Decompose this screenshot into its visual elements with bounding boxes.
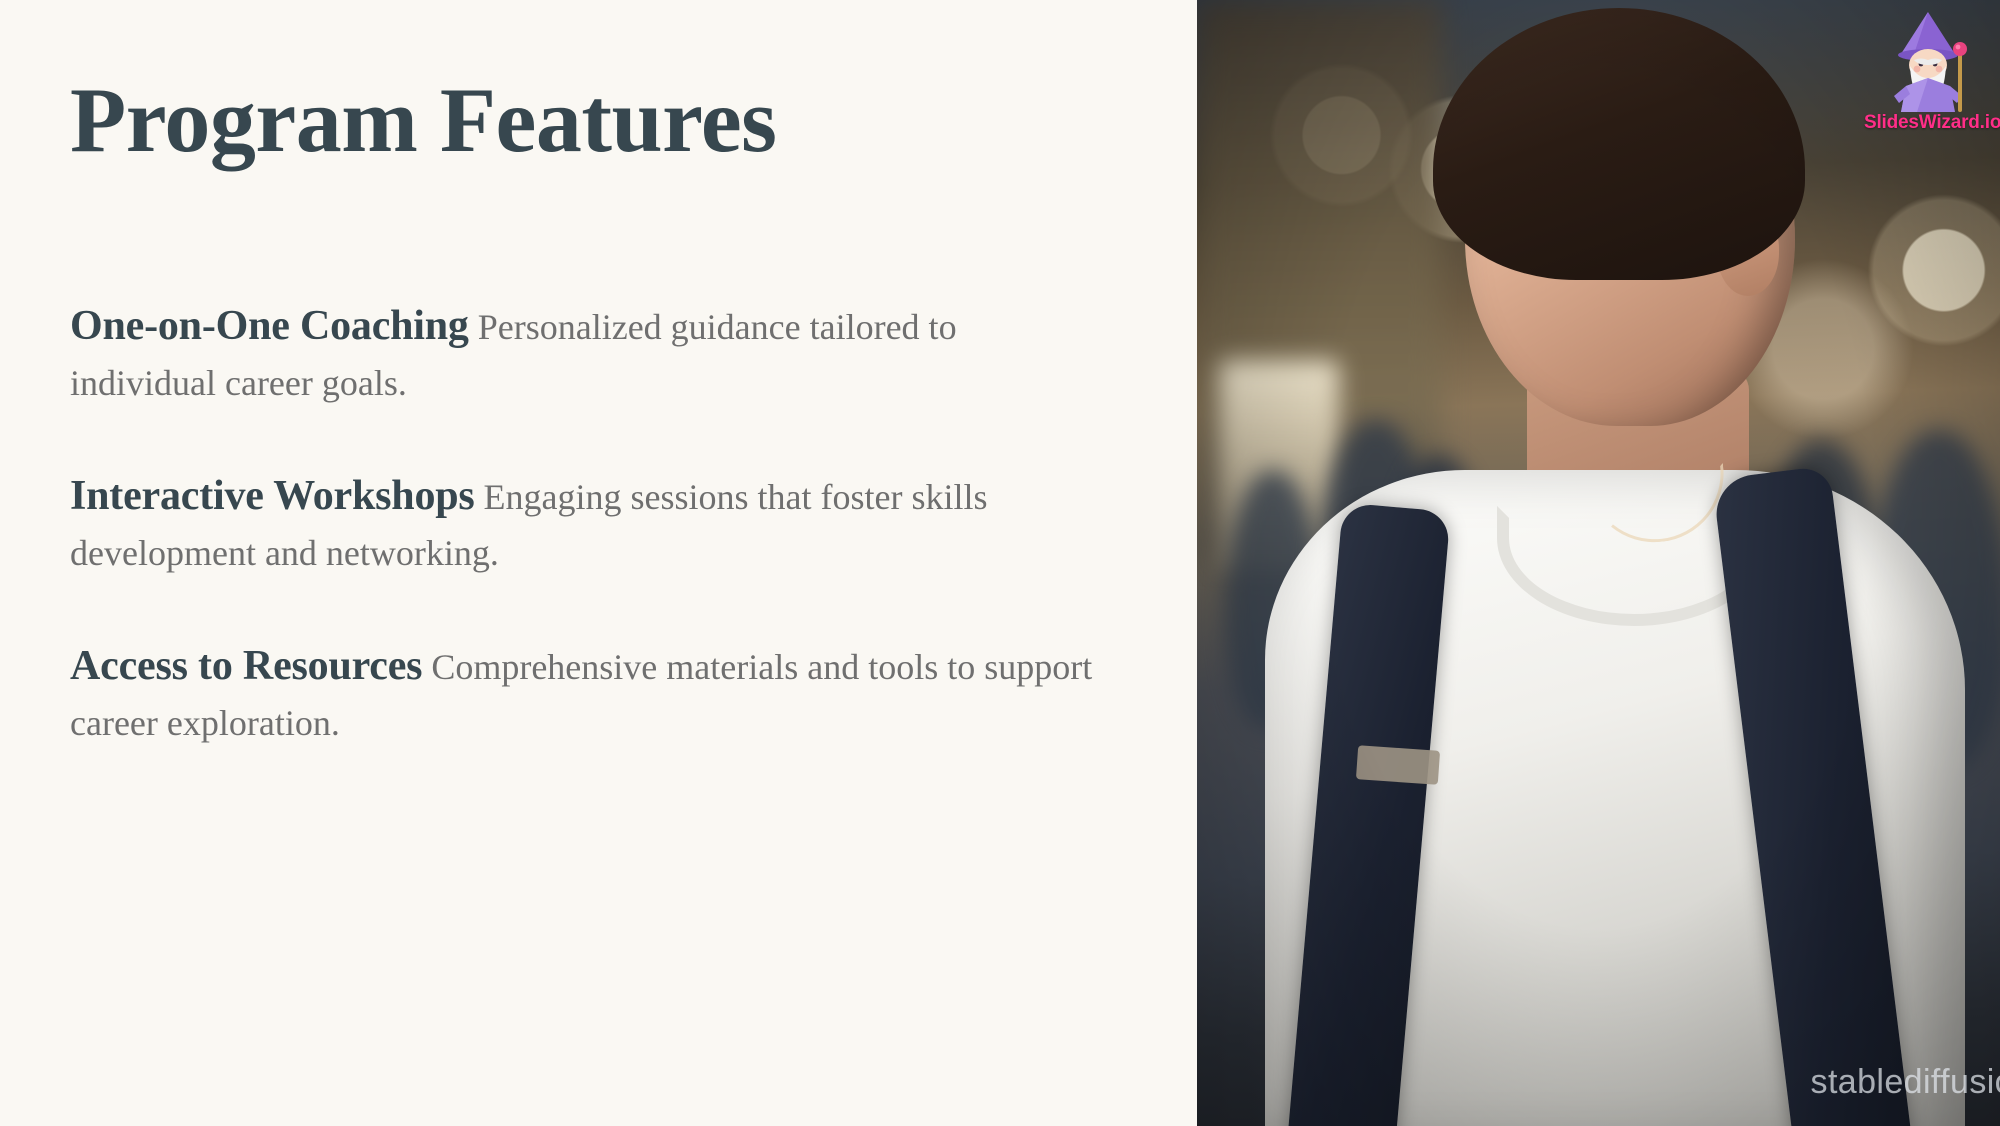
wizard-icon — [1868, 8, 1988, 112]
feature-text: Interactive Workshops Engaging sessions … — [70, 466, 1110, 579]
feature-heading: One-on-One Coaching — [70, 303, 469, 349]
feature-text: Access to Resources Comprehensive materi… — [70, 636, 1110, 749]
feature-list: One-on-One Coaching Personalized guidanc… — [70, 296, 1110, 749]
feature-heading: Interactive Workshops — [70, 473, 475, 519]
feature-text: One-on-One Coaching Personalized guidanc… — [70, 296, 1110, 409]
content-panel: Program Features One-on-One Coaching Per… — [0, 0, 1197, 1126]
feature-item: One-on-One Coaching Personalized guidanc… — [70, 296, 1110, 409]
photo-backpack-tag — [1356, 745, 1440, 785]
feature-item: Interactive Workshops Engaging sessions … — [70, 466, 1110, 579]
brand-logo-text: SlidesWizard.io — [1864, 112, 1992, 134]
feature-item: Access to Resources Comprehensive materi… — [70, 636, 1110, 749]
feature-heading: Access to Resources — [70, 643, 422, 689]
page-title: Program Features — [70, 72, 776, 169]
slide-image-panel: stablediffusio — [1197, 0, 2000, 1126]
image-source-watermark: stablediffusio — [1811, 1063, 2000, 1102]
presentation-slide: Program Features One-on-One Coaching Per… — [0, 0, 2000, 1126]
brand-logo[interactable]: SlidesWizard.io — [1868, 8, 1988, 136]
